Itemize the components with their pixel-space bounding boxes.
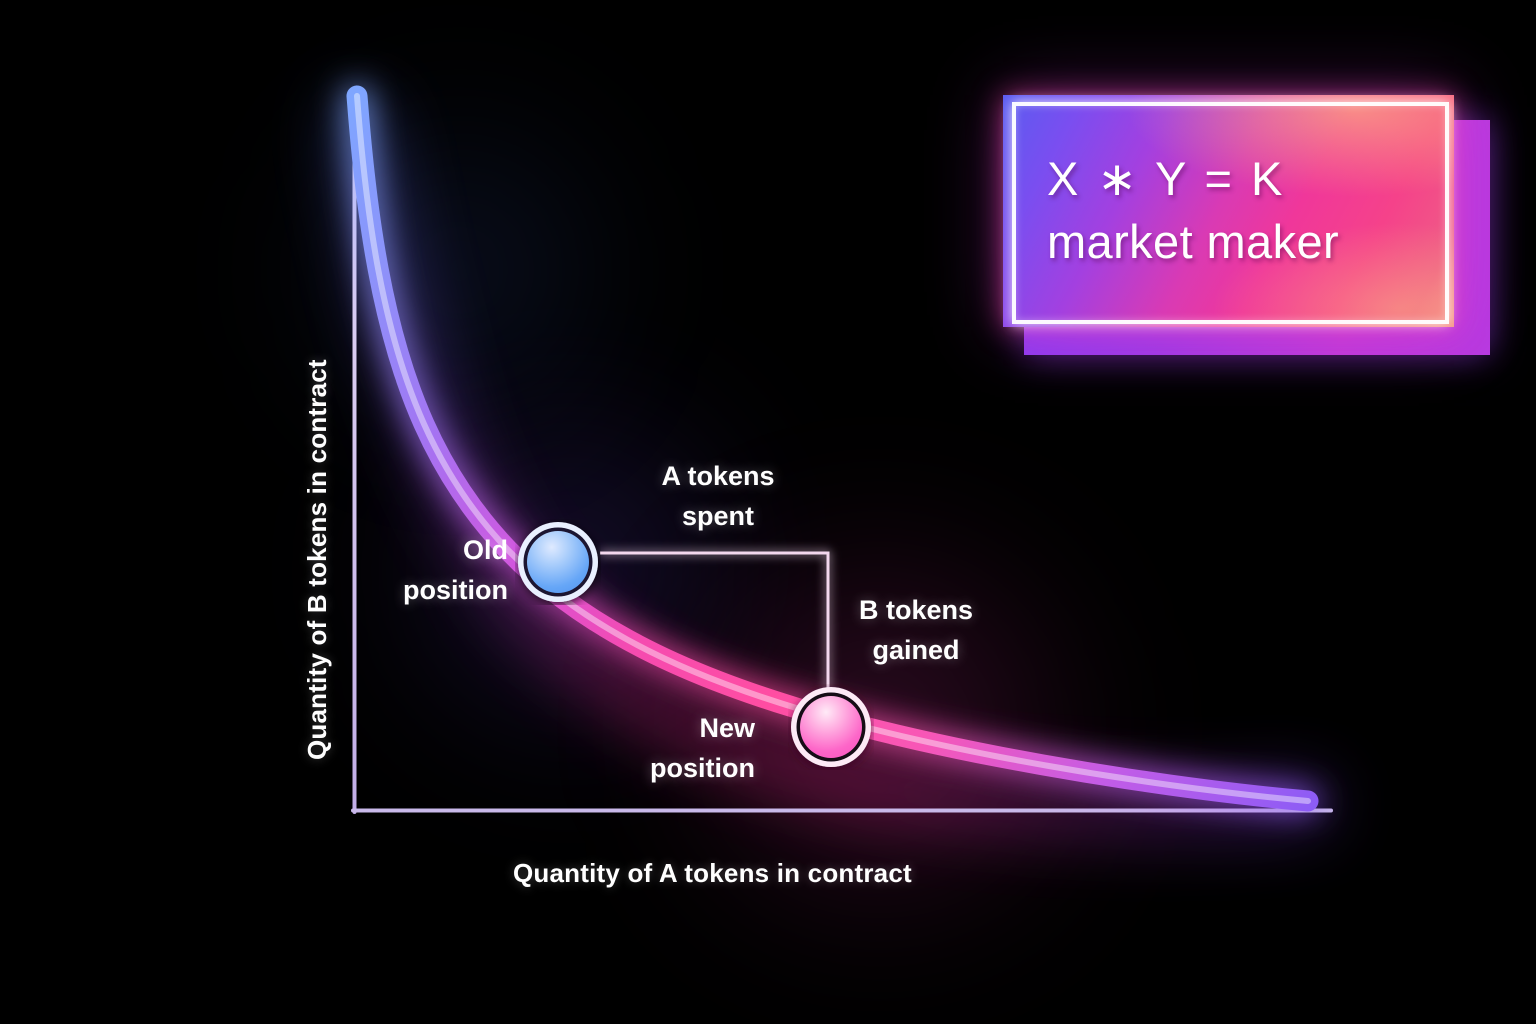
badge-formula: X ∗ Y = K xyxy=(1047,150,1454,208)
b-tokens-gained-label: B tokens gained xyxy=(849,590,983,670)
chart-canvas: Quantity of B tokens in contract Quantit… xyxy=(0,0,1536,1024)
new-position-label: New position xyxy=(650,708,755,788)
x-axis-label: Quantity of A tokens in contract xyxy=(513,858,912,889)
badge-gradient-panel: X ∗ Y = K market maker xyxy=(1003,95,1454,327)
market-maker-badge: X ∗ Y = K market maker xyxy=(998,92,1498,364)
badge-subtitle: market maker xyxy=(1047,212,1454,272)
old-position-label: Old position xyxy=(403,530,508,610)
badge-inner-border xyxy=(1012,102,1449,324)
old-position-marker[interactable] xyxy=(515,519,601,605)
a-tokens-spent-label: A tokens spent xyxy=(651,456,785,536)
new-position-marker[interactable] xyxy=(788,684,874,770)
y-axis-label: Quantity of B tokens in contract xyxy=(302,359,333,760)
badge-text-block: X ∗ Y = K market maker xyxy=(1003,95,1454,327)
